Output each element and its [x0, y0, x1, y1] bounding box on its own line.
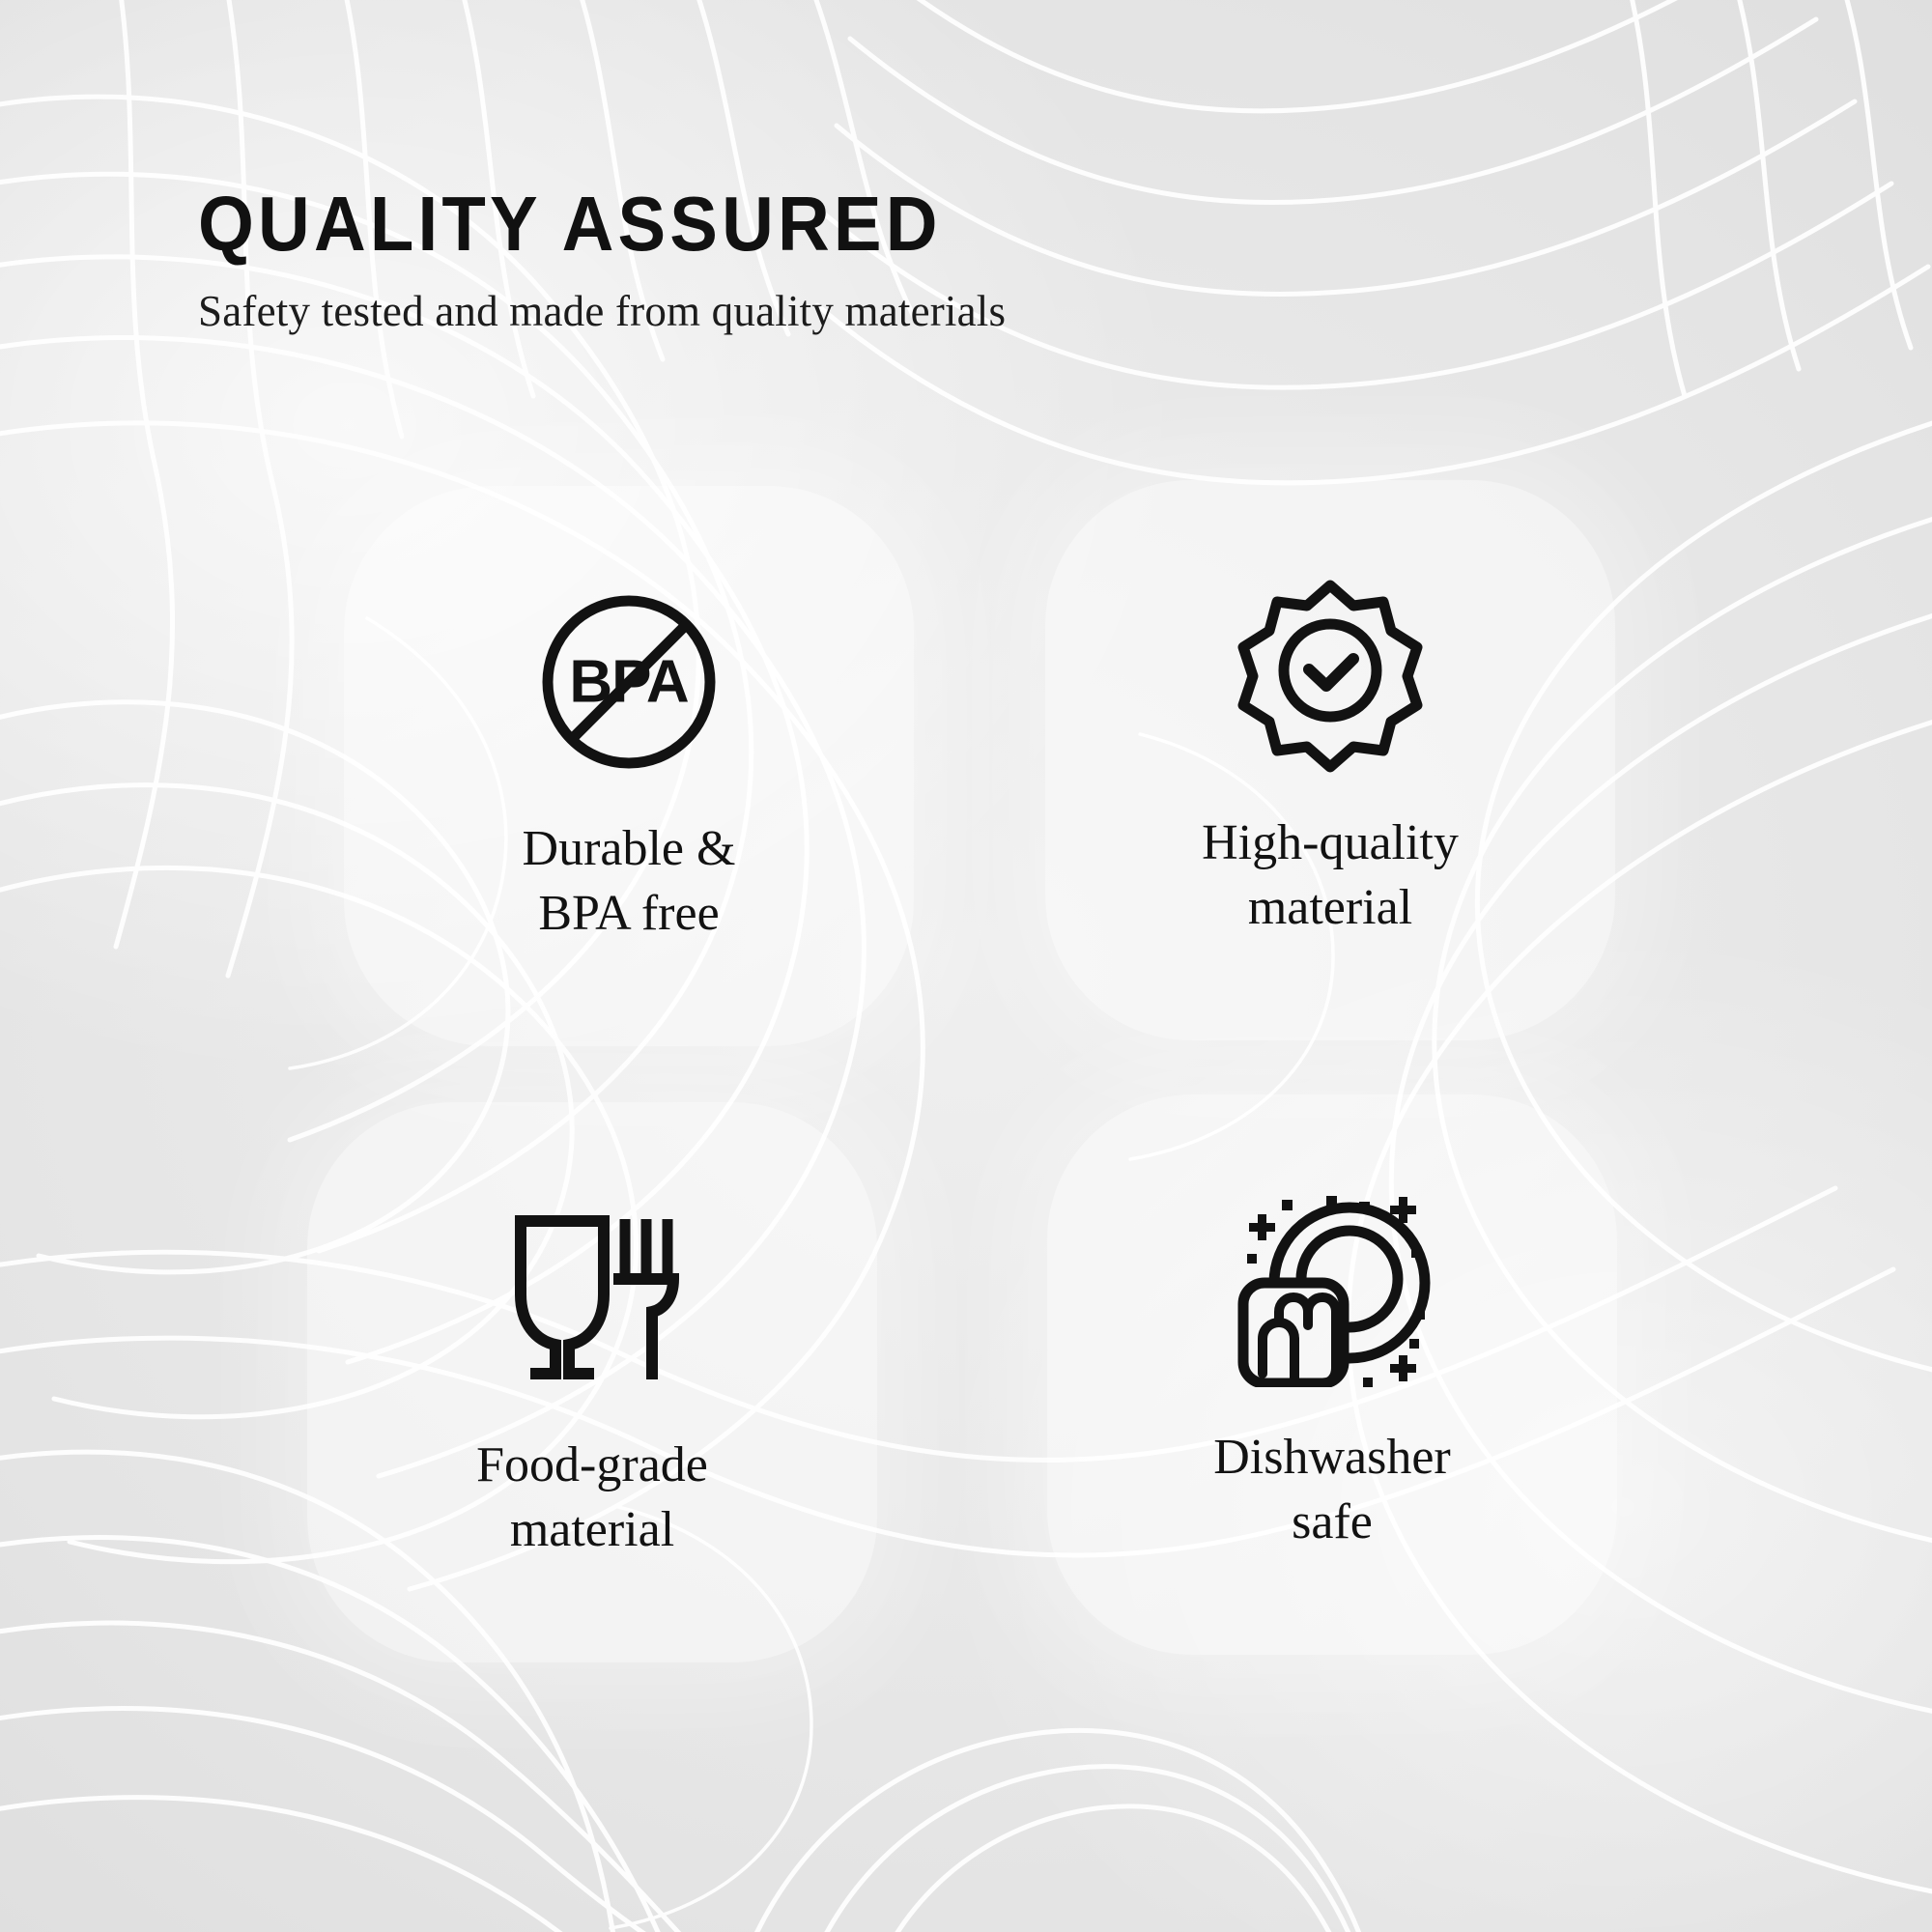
- bpa-free-icon: BPA: [527, 585, 730, 779]
- feature-card-label: Food-grade material: [476, 1434, 708, 1562]
- feature-card-durable-bpa-free[interactable]: BPA Durable & BPA free: [344, 486, 914, 1046]
- feature-card-grid: BPA Durable & BPA free High-quality mate…: [307, 480, 1631, 1649]
- quality-badge-check-icon: [1229, 580, 1432, 773]
- feature-card-label: High-quality material: [1202, 811, 1459, 940]
- feature-card-food-grade-material[interactable]: Food-grade material: [307, 1102, 877, 1662]
- feature-label-line-1: Durable &: [523, 821, 736, 876]
- svg-text:BPA: BPA: [569, 649, 689, 716]
- page-title: QUALITY ASSURED: [198, 185, 1366, 263]
- feature-label-line-2: safe: [1292, 1494, 1373, 1549]
- feature-card-high-quality-material[interactable]: High-quality material: [1045, 480, 1615, 1040]
- feature-label-line-1: Dishwasher: [1213, 1430, 1451, 1485]
- quality-assured-poster: QUALITY ASSURED Safety tested and made f…: [0, 0, 1932, 1932]
- feature-card-label: Durable & BPA free: [523, 817, 736, 946]
- feature-label-line-2: material: [1248, 880, 1412, 935]
- page-subtitle: Safety tested and made from quality mate…: [198, 263, 1454, 336]
- feature-label-line-1: High-quality: [1202, 815, 1459, 870]
- feature-label-line-2: material: [510, 1502, 674, 1557]
- feature-label-line-2: BPA free: [538, 886, 719, 941]
- poster-header: QUALITY ASSURED Safety tested and made f…: [198, 185, 1454, 336]
- feature-card-label: Dishwasher safe: [1213, 1426, 1451, 1554]
- feature-card-dishwasher-safe[interactable]: Dishwasher safe: [1047, 1094, 1617, 1655]
- dishwasher-safe-hand-plate-icon: [1231, 1194, 1434, 1387]
- feature-label-line-1: Food-grade: [476, 1437, 708, 1492]
- glass-and-fork-food-safe-icon: [491, 1202, 694, 1395]
